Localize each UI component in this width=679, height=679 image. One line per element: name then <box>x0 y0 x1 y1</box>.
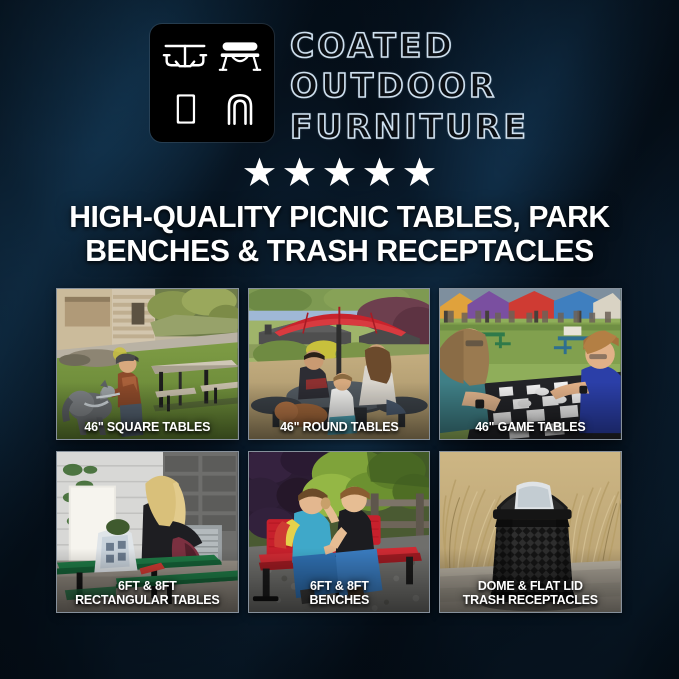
star-icon <box>364 157 395 187</box>
product-grid: 46" SQUARE TABLES <box>56 288 622 613</box>
product-tile-game-tables[interactable]: 46" GAME TABLES <box>439 288 622 440</box>
product-tile-round-tables[interactable]: 46" ROUND TABLES <box>248 288 431 440</box>
picnic-table-icon <box>157 31 212 83</box>
product-tile-trash-receptacles[interactable]: DOME & FLAT LID TRASH RECEPTACLES <box>439 451 622 613</box>
logo-icon-grid <box>150 24 274 142</box>
brand-wordmark: COATED OUTDOOR FURNITURE <box>290 24 529 147</box>
brand-logo: COATED OUTDOOR FURNITURE <box>0 24 679 147</box>
product-tile-benches[interactable]: 6FT & 8FT BENCHES <box>248 451 431 613</box>
tile-caption: 46" GAME TABLES <box>444 420 617 434</box>
star-icon <box>404 157 435 187</box>
product-tile-square-tables[interactable]: 46" SQUARE TABLES <box>56 288 239 440</box>
headline-line-2: BENCHES & TRASH RECEPTACLES <box>10 234 669 268</box>
product-photo-square-tables <box>57 289 238 439</box>
advertisement-banner: COATED OUTDOOR FURNITURE HIGH-QUALITY PI… <box>0 0 679 679</box>
star-icon <box>244 157 275 187</box>
tile-caption: 6FT & 8FT RECTANGULAR TABLES <box>61 579 234 607</box>
trash-receptacle-icon <box>157 83 212 135</box>
product-tile-rectangular-tables[interactable]: 6FT & 8FT RECTANGULAR TABLES <box>56 451 239 613</box>
tile-caption: 46" SQUARE TABLES <box>61 420 234 434</box>
product-photo-round-tables <box>249 289 430 439</box>
logo-line-furniture: FURNITURE <box>290 107 529 147</box>
product-photo-game-tables <box>440 289 621 439</box>
headline-line-1: HIGH-QUALITY PICNIC TABLES, PARK <box>10 200 669 234</box>
tile-caption: 6FT & 8FT BENCHES <box>252 579 425 607</box>
bike-rack-icon <box>212 83 267 135</box>
star-icon <box>324 157 355 187</box>
park-bench-icon <box>212 31 267 83</box>
logo-line-outdoor: OUTDOOR <box>290 66 529 106</box>
page-title: HIGH-QUALITY PICNIC TABLES, PARK BENCHES… <box>10 200 669 268</box>
tile-caption: 46" ROUND TABLES <box>252 420 425 434</box>
star-icon <box>284 157 315 187</box>
star-rating <box>0 157 679 187</box>
tile-caption: DOME & FLAT LID TRASH RECEPTACLES <box>444 579 617 607</box>
logo-line-coated: COATED <box>290 26 529 66</box>
